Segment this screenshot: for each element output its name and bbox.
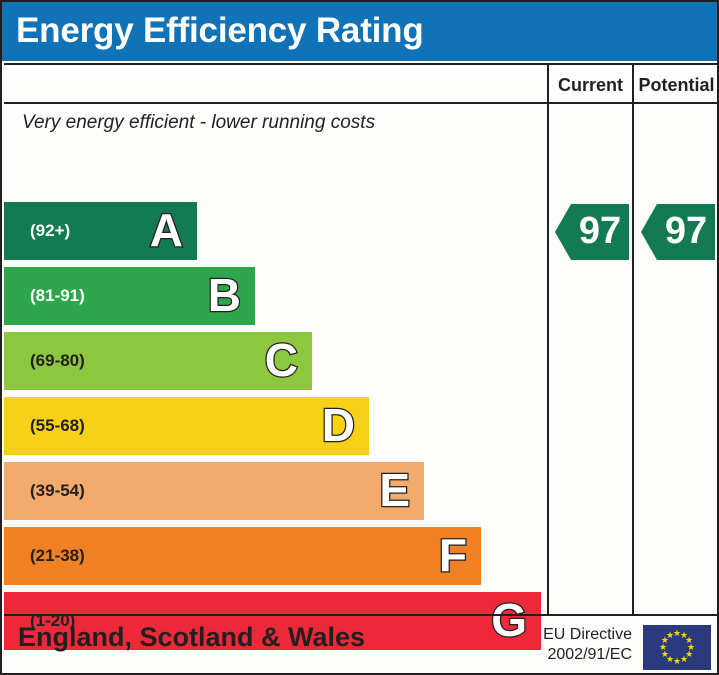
band-row-b: (81-91) B — [4, 267, 255, 325]
eu-directive-line1: EU Directive — [522, 625, 632, 645]
band-range-f: (21-38) — [30, 527, 85, 585]
band-row-d: (55-68) D — [4, 397, 369, 455]
current-rating-arrow: 97 — [555, 204, 629, 260]
band-letter-d: D — [322, 397, 355, 455]
header-row-divider — [4, 102, 719, 104]
title-bar: Energy Efficiency Rating — [2, 2, 719, 61]
band-range-a: (92+) — [30, 202, 70, 260]
band-row-e: (39-54) E — [4, 462, 424, 520]
band-row-f: (21-38) F — [4, 527, 481, 585]
eu-flag-icon: ★★★★★★★★★★★★ — [643, 625, 711, 670]
footer-bar: England, Scotland & Wales EU Directive 2… — [4, 614, 719, 673]
band-letter-f: F — [439, 527, 467, 585]
potential-column-divider — [632, 65, 634, 616]
rating-grid: Current Potential Very energy efficient … — [4, 63, 719, 614]
eu-directive-line2: 2002/91/EC — [522, 645, 632, 665]
band-range-e: (39-54) — [30, 462, 85, 520]
band-letter-e: E — [379, 462, 410, 520]
energy-efficiency-certificate: Energy Efficiency Rating Current Potenti… — [0, 0, 719, 675]
eu-flag-star: ★ — [666, 631, 675, 640]
eu-directive-text: EU Directive 2002/91/EC — [522, 625, 632, 665]
band-range-d: (55-68) — [30, 397, 85, 455]
page-title: Energy Efficiency Rating — [16, 5, 424, 57]
band-letter-a: A — [150, 202, 183, 260]
column-header-potential: Potential — [634, 70, 719, 100]
band-letter-b: B — [208, 267, 241, 325]
current-column-divider — [547, 65, 549, 616]
band-range-c: (69-80) — [30, 332, 85, 390]
potential-rating-value: 97 — [657, 204, 715, 260]
caption-top: Very energy efficient - lower running co… — [22, 112, 375, 134]
band-row-a: (92+) A — [4, 202, 197, 260]
column-header-current: Current — [549, 70, 632, 100]
band-row-c: (69-80) C — [4, 332, 312, 390]
current-rating-value: 97 — [571, 204, 629, 260]
potential-rating-arrow: 97 — [641, 204, 715, 260]
band-range-b: (81-91) — [30, 267, 85, 325]
region-label: England, Scotland & Wales — [18, 622, 365, 653]
band-letter-c: C — [265, 332, 298, 390]
